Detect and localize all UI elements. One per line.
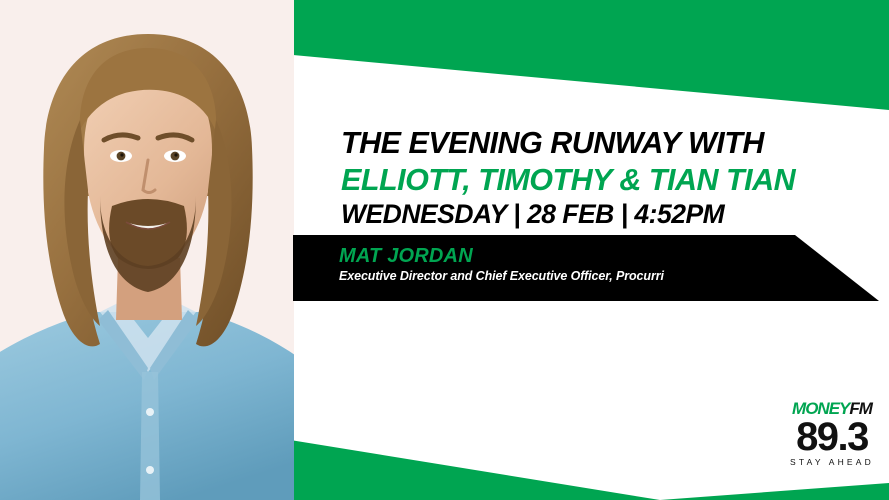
- moneyfm-logo: MONEYFM 89.3 STAY AHEAD: [782, 400, 882, 472]
- show-datetime-line: WEDNESDAY | 28 FEB | 4:52PM: [341, 201, 881, 228]
- guest-role: Executive Director and Chief Executive O…: [339, 270, 664, 284]
- show-title-block: THE EVENING RUNWAY WITH ELLIOTT, TIMOTHY…: [341, 128, 881, 228]
- banner-text-group: MAT JORDAN Executive Director and Chief …: [339, 245, 664, 284]
- guest-portrait-panel: [0, 0, 294, 500]
- guest-name-banner: MAT JORDAN Executive Director and Chief …: [293, 235, 889, 301]
- logo-frequency: 89.3: [782, 418, 882, 456]
- guest-portrait-image: [0, 0, 294, 500]
- show-hosts-line: ELLIOTT, TIMOTHY & TIAN TIAN: [341, 165, 881, 196]
- logo-tagline: STAY AHEAD: [782, 458, 882, 467]
- guest-name: MAT JORDAN: [339, 245, 664, 267]
- show-title-line-1: THE EVENING RUNWAY WITH: [341, 128, 881, 159]
- broadcast-promo-graphic: THE EVENING RUNWAY WITH ELLIOTT, TIMOTHY…: [0, 0, 889, 500]
